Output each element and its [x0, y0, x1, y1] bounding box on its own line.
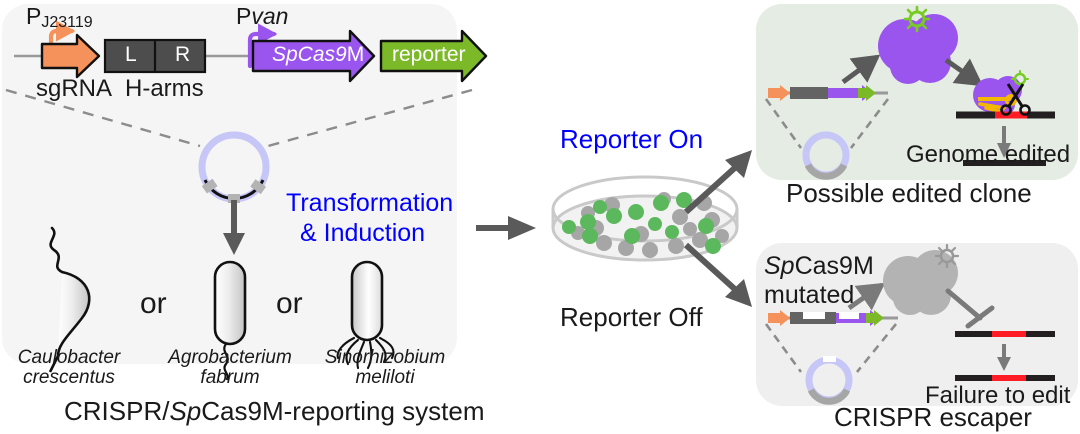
- branch-arrow-up: [686, 150, 752, 212]
- harm-left-label: L: [125, 44, 137, 66]
- organism-label-sinorhizobium: Sinorhizobium meliloti: [312, 348, 458, 388]
- spcas9m-mutated-label-line1: SpCas9M: [764, 253, 874, 279]
- transformation-label-line2: & Induction: [300, 220, 425, 246]
- branch-arrow-down: [686, 245, 752, 307]
- genome-edited-label: Genome edited: [906, 142, 1070, 167]
- spcas9m-mutated-label-line2: mutated: [764, 282, 854, 308]
- transformation-label-line1: Transformation: [286, 190, 453, 216]
- organism-species: crescentus: [8, 368, 130, 388]
- colonies-gray: [571, 192, 729, 258]
- organism-label-agrobacterium: Agrobacterium fabrum: [152, 348, 308, 388]
- organism-genus: Sinorhizobium: [312, 348, 458, 368]
- colonies-green: [562, 192, 721, 254]
- organism-genus: Agrobacterium: [152, 348, 308, 368]
- figure-root: PJ23119 Pvan sgRNA H-arms L R SpCas9M re…: [0, 0, 1080, 434]
- crispr-escaper-label: CRISPR escaper: [834, 404, 1032, 431]
- or-label-2: or: [276, 288, 303, 320]
- spcas9m-label: SpCas9M: [272, 44, 364, 66]
- panel-reporting-system: [2, 4, 457, 364]
- promoter-van-italic: van: [251, 3, 288, 29]
- reporter-off-label: Reporter Off: [560, 304, 703, 331]
- possible-edited-clone-label: Possible edited clone: [786, 180, 1032, 207]
- or-label-1: or: [140, 288, 167, 320]
- promoter-van-label: Pvan: [236, 4, 288, 28]
- main-flow-arrow: [476, 216, 536, 240]
- organism-species: fabrum: [152, 368, 308, 388]
- harms-label: H-arms: [125, 76, 204, 101]
- promoter-j23119-subscript: J23119: [41, 14, 92, 31]
- organism-genus: Caulobacter: [8, 348, 130, 368]
- reporter-on-label: Reporter On: [560, 126, 703, 153]
- sgrna-label: sgRNA: [36, 76, 112, 101]
- organism-label-caulobacter: Caulobacter crescentus: [8, 348, 130, 388]
- organism-species: meliloti: [312, 368, 458, 388]
- reporter-label: reporter: [392, 44, 466, 66]
- harm-right-label: R: [175, 44, 190, 66]
- left-panel-caption: CRISPR/SpCas9M-reporting system: [64, 398, 484, 425]
- petri-dish-icon: [553, 177, 737, 260]
- promoter-j23119-label: PJ23119: [26, 4, 93, 32]
